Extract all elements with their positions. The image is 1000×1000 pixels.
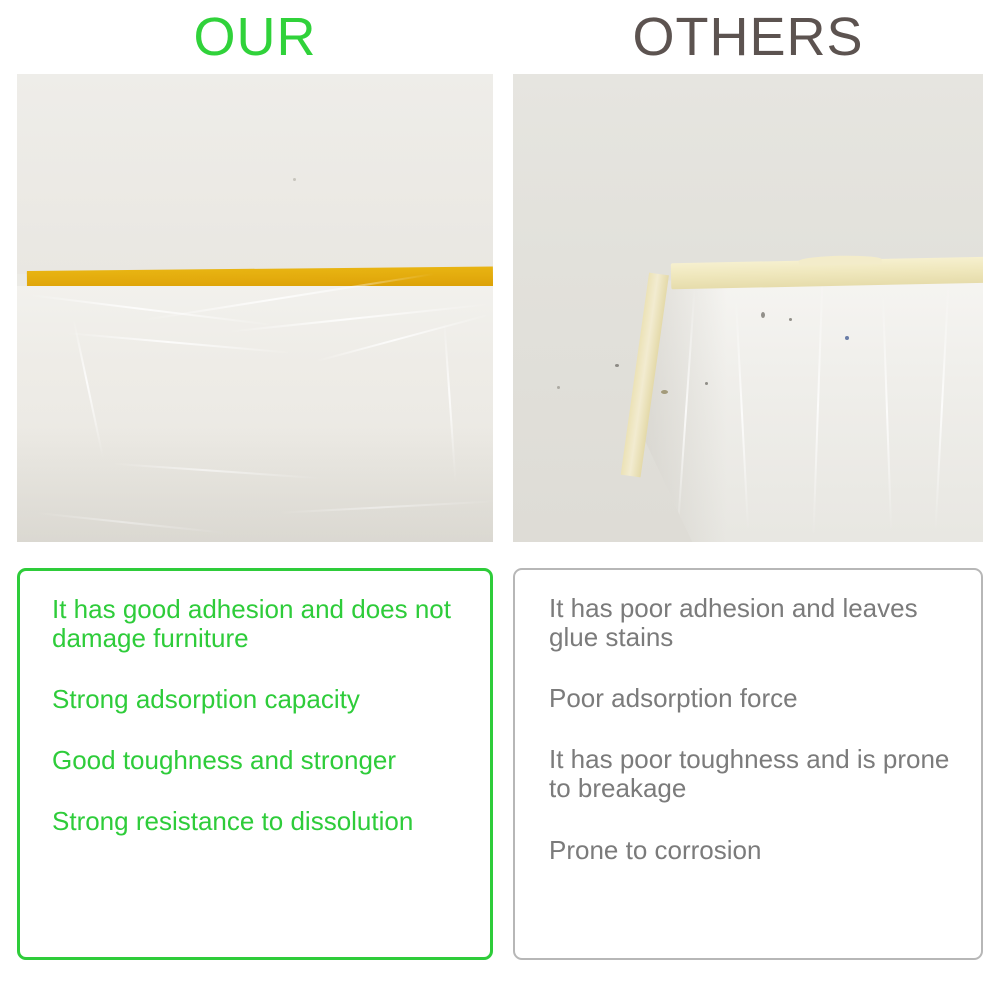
list-item: Poor adsorption force — [549, 684, 959, 713]
others-drawbacks-list: It has poor adhesion and leaves glue sta… — [537, 594, 959, 865]
list-item: It has poor toughness and is prone to br… — [549, 745, 959, 803]
list-item: It has poor adhesion and leaves glue sta… — [549, 594, 959, 652]
photo-others-tape — [513, 74, 983, 542]
wrinkled-plastic-film — [637, 270, 983, 542]
heading-our: OUR — [17, 8, 493, 68]
glue-stain-speck — [557, 386, 560, 389]
glue-stain-speck — [661, 390, 668, 394]
list-item: Strong adsorption capacity — [52, 685, 468, 714]
glue-stain-speck — [845, 336, 849, 340]
list-item: Prone to corrosion — [549, 836, 959, 865]
plastic-film — [17, 286, 493, 542]
photo-our-tape — [17, 74, 493, 542]
list-item: Good toughness and stronger — [52, 746, 468, 775]
comparison-infographic: OUR OTHERS — [0, 0, 1000, 1000]
our-benefits-list: It has good adhesion and does not damage… — [42, 595, 468, 837]
glue-stain-speck — [615, 364, 619, 367]
wall-surface — [17, 74, 493, 274]
our-benefits-box: It has good adhesion and does not damage… — [17, 568, 493, 960]
others-drawbacks-box: It has poor adhesion and leaves glue sta… — [513, 568, 983, 960]
list-item: Strong resistance to dissolution — [52, 807, 468, 836]
glue-stain-speck — [761, 312, 765, 318]
glue-stain-speck — [705, 382, 708, 385]
heading-others: OTHERS — [513, 8, 983, 68]
list-item: It has good adhesion and does not damage… — [52, 595, 468, 653]
glue-stain-speck — [789, 318, 792, 321]
